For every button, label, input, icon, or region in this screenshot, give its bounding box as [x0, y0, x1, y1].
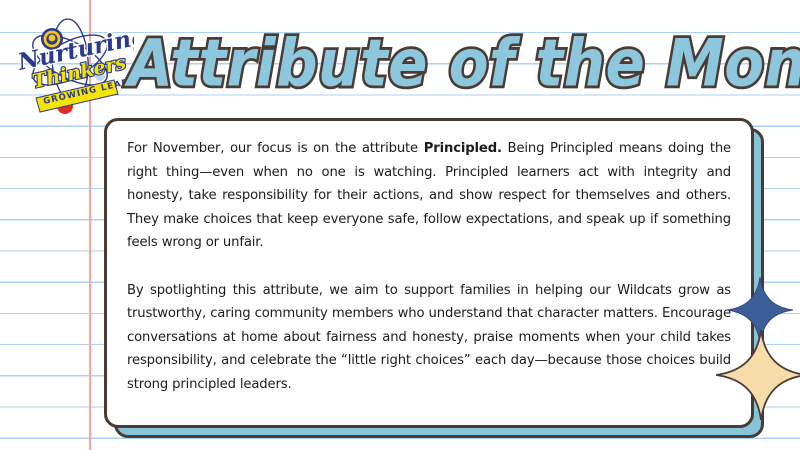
text-run: By spotlighting this attribute, we aim t…	[127, 283, 731, 392]
sparkle-tan-icon	[716, 330, 800, 420]
text-run: Being Principled means doing the right t…	[127, 141, 731, 250]
paragraph-1: For November, our focus is on the attrib…	[127, 137, 731, 255]
nurturing-thinkers-logo: GROWING LEADERS Nurturing Thinkers	[12, 18, 134, 116]
page-title-text: Attribute of the Month	[128, 31, 800, 96]
page-title: Attribute of the Month	[128, 22, 792, 104]
page-header: GROWING LEADERS Nurturing Thinkers Attri…	[0, 0, 800, 118]
card-body: For November, our focus is on the attrib…	[104, 118, 754, 428]
content-card: For November, our focus is on the attrib…	[104, 118, 754, 428]
paragraph-2: By spotlighting this attribute, we aim t…	[127, 279, 731, 397]
attribute-name-highlight: Principled.	[424, 141, 502, 156]
text-run: For November, our focus is on the attrib…	[127, 141, 424, 156]
attribute-of-the-month-page: GROWING LEADERS Nurturing Thinkers Attri…	[0, 0, 800, 450]
